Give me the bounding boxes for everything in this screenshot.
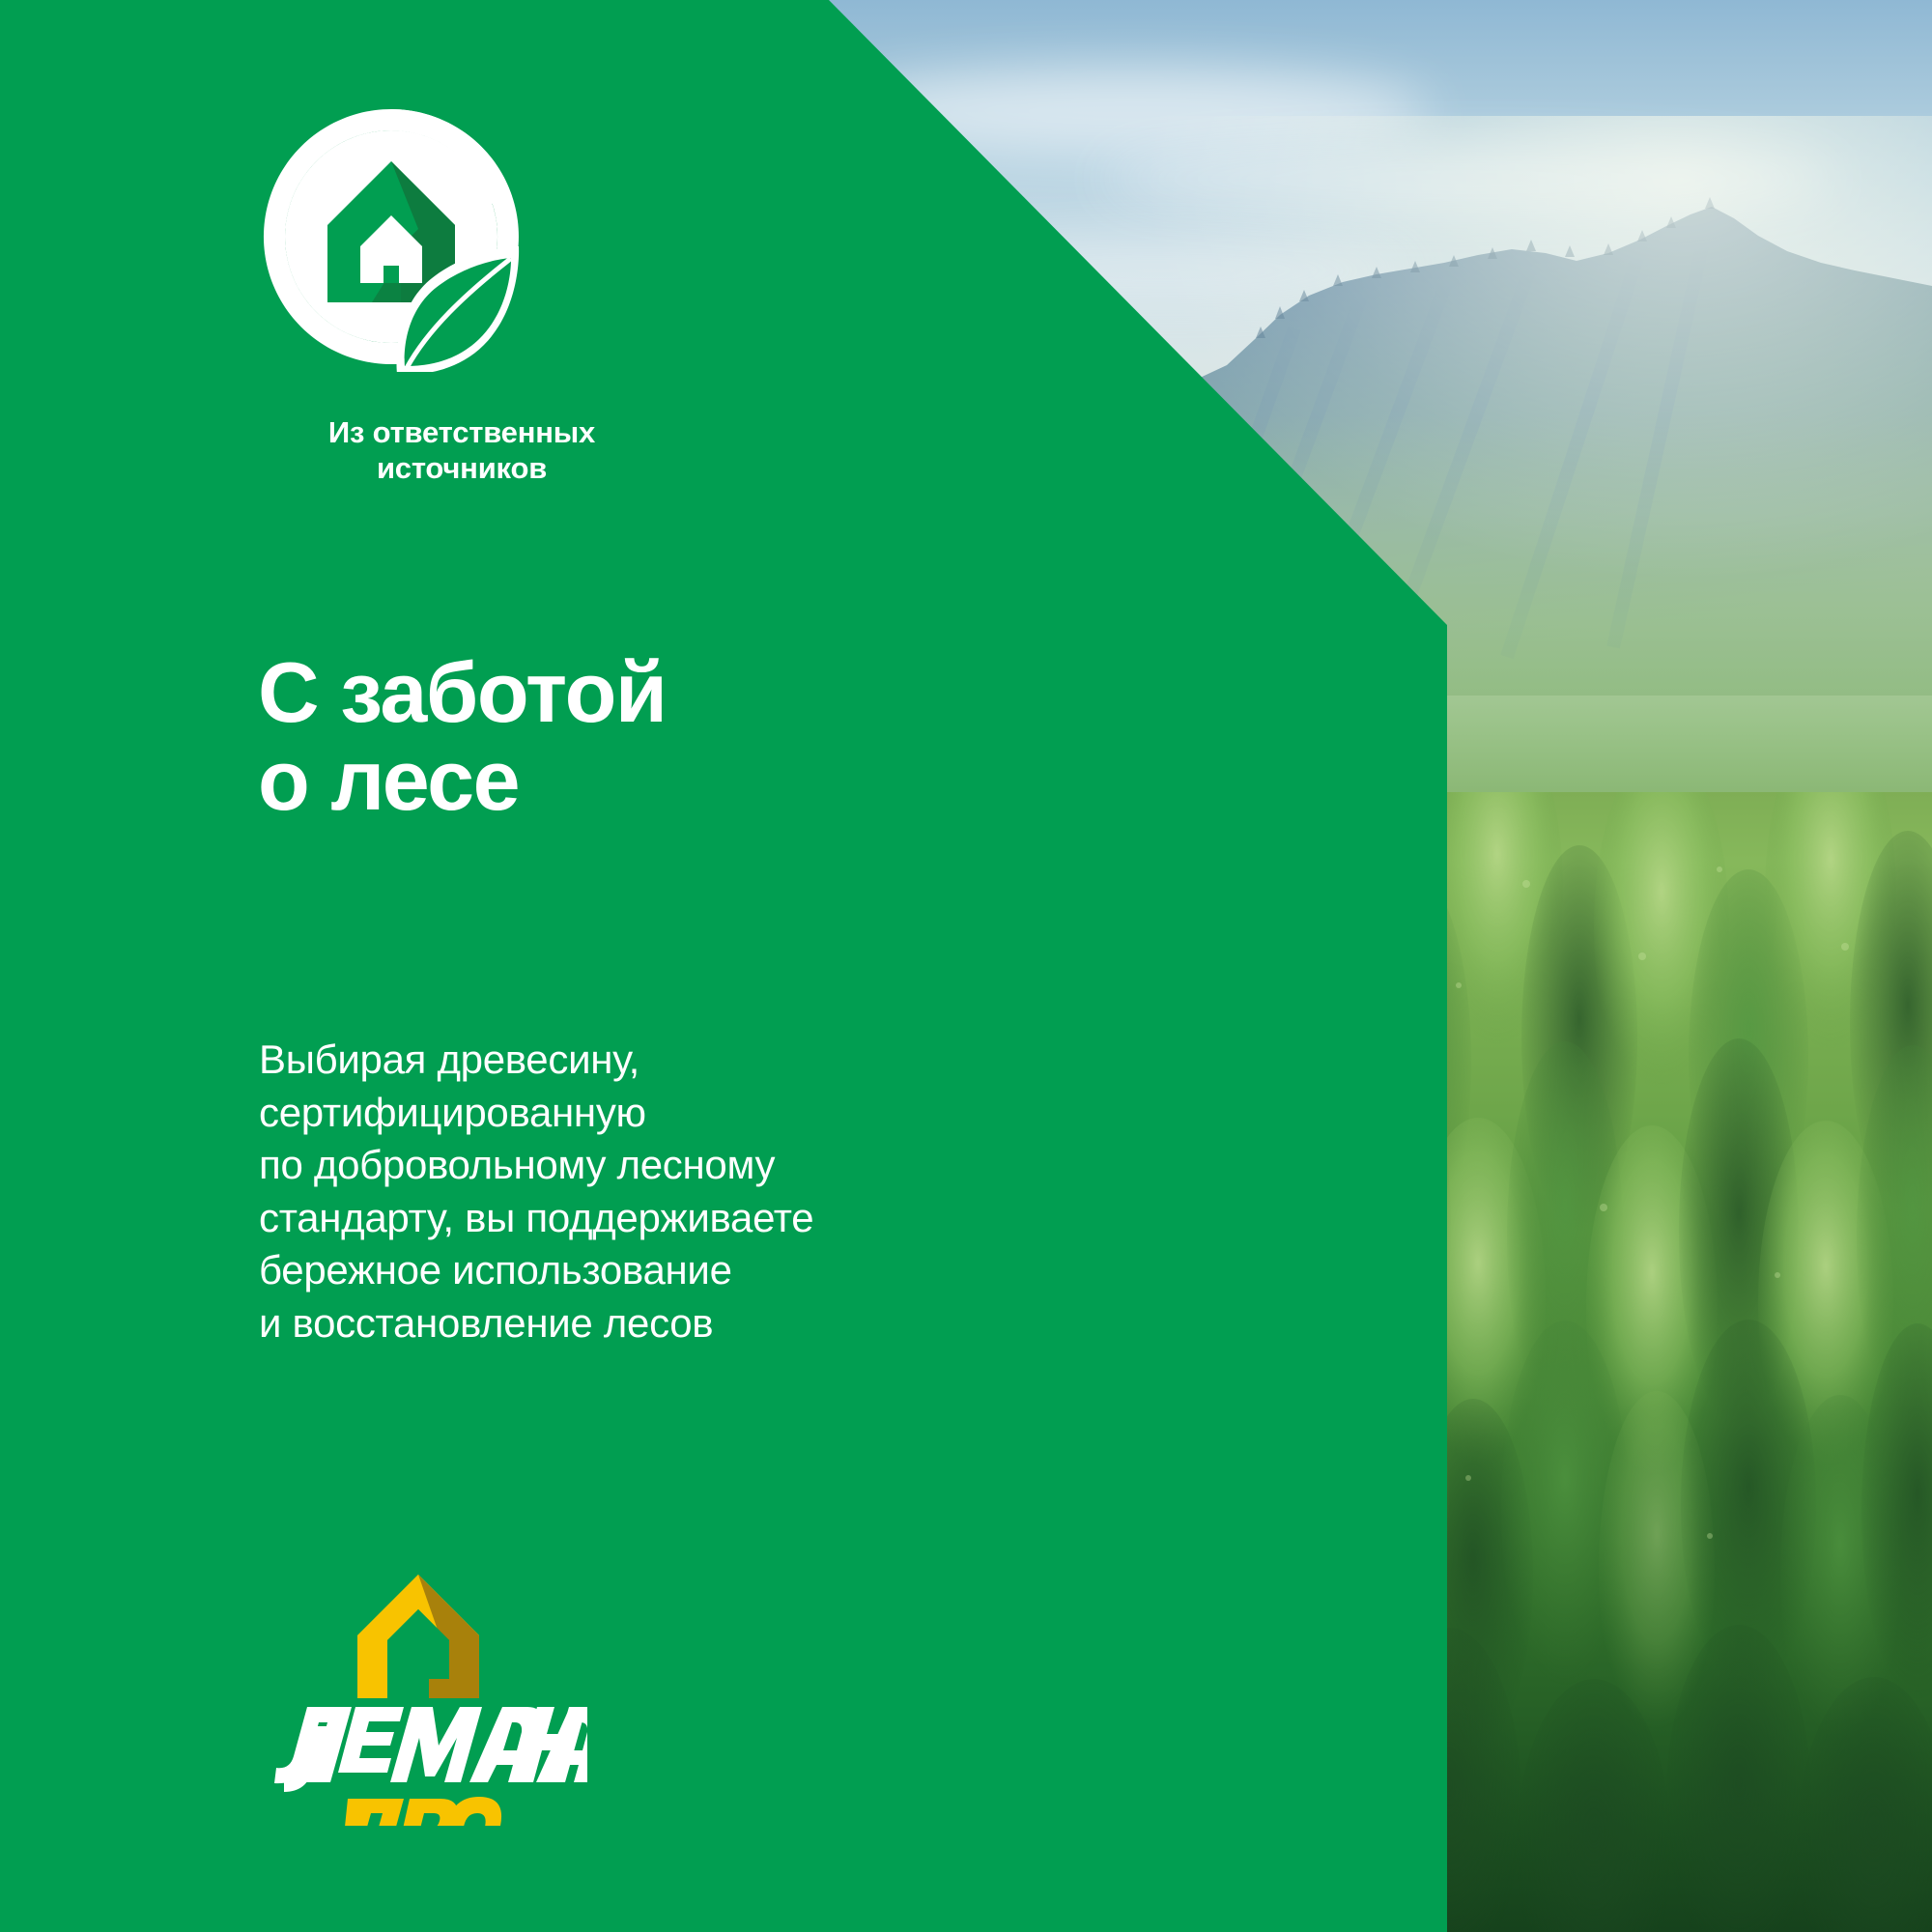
page-title: С заботой о лесе — [258, 649, 992, 824]
lemana-house-icon — [357, 1575, 479, 1698]
poster-canvas: Из ответственных источников С заботой о … — [0, 0, 1932, 1932]
lemana-pro-logo — [249, 1536, 587, 1826]
body-paragraph: Выбирая древесину, сертифицированную по … — [259, 1034, 1032, 1350]
badge-caption: Из ответственных источников — [259, 415, 665, 487]
eco-house-leaf-circle-logo — [256, 101, 526, 372]
